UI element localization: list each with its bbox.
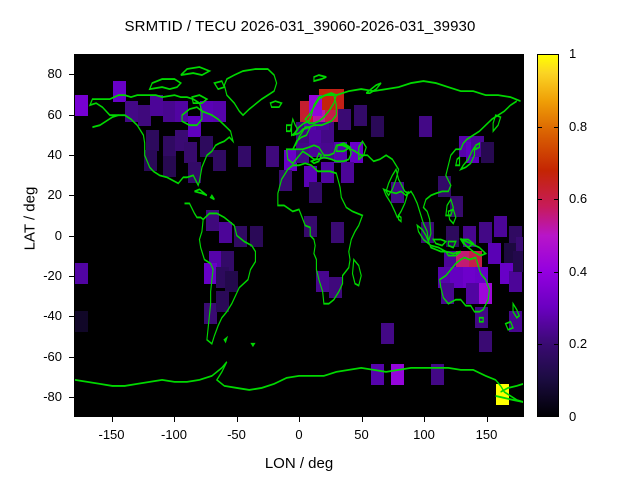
heatmap-cell	[421, 222, 434, 243]
map-plot-area[interactable]	[74, 54, 524, 417]
heatmap-cell	[175, 101, 188, 122]
x-tick-label: 150	[457, 427, 517, 442]
x-tick	[424, 417, 425, 422]
heatmap-cell	[479, 222, 492, 243]
heatmap-cell	[144, 150, 157, 171]
heatmap-cell	[316, 271, 329, 292]
colorbar-tick	[554, 416, 559, 417]
heatmap-cell	[488, 243, 501, 264]
heatmap-cell	[213, 150, 226, 171]
x-tick-label: -50	[207, 427, 267, 442]
heatmap-cell	[419, 116, 432, 137]
heatmap-cell	[438, 176, 451, 197]
y-tick	[69, 276, 74, 277]
heatmap-cell	[481, 142, 494, 163]
y-tick-label: 80	[12, 66, 62, 81]
y-tick	[69, 155, 74, 156]
colorbar[interactable]	[537, 54, 559, 417]
heatmap-cell	[266, 146, 279, 167]
heatmap-cell	[321, 162, 334, 183]
x-tick	[174, 417, 175, 422]
heatmap-cell	[146, 130, 159, 151]
heatmap-cell	[381, 323, 394, 344]
heatmap-cell	[334, 142, 347, 163]
heatmap-cell-layer	[75, 55, 523, 416]
heatmap-cell	[331, 89, 344, 110]
figure-canvas: SRMTID / TECU 2026-031_39060-2026-031_39…	[0, 0, 640, 480]
colorbar-tick	[554, 127, 559, 128]
heatmap-cell	[391, 182, 404, 203]
y-tick-label: -60	[12, 349, 62, 364]
x-tick-label: 100	[394, 427, 454, 442]
heatmap-cell	[513, 251, 525, 272]
heatmap-cell	[309, 182, 322, 203]
heatmap-cell	[250, 226, 263, 247]
y-tick	[69, 236, 74, 237]
y-tick-label: -80	[12, 389, 62, 404]
x-tick-label: 50	[332, 427, 392, 442]
heatmap-cell	[188, 162, 201, 183]
heatmap-cell	[234, 226, 247, 247]
heatmap-cell	[213, 101, 226, 122]
heatmap-cell	[200, 136, 213, 157]
x-axis-title: LON / deg	[74, 455, 524, 472]
heatmap-cell	[225, 271, 238, 292]
heatmap-cell	[496, 384, 509, 405]
x-tick	[299, 417, 300, 422]
colorbar-tick-label: 0.8	[569, 119, 587, 134]
colorbar-tick	[537, 127, 542, 128]
heatmap-cell	[188, 116, 201, 137]
heatmap-cell	[163, 101, 176, 122]
y-tick	[69, 357, 74, 358]
x-tick	[237, 417, 238, 422]
heatmap-cell	[296, 142, 309, 163]
heatmap-cell	[163, 156, 176, 177]
y-tick	[69, 397, 74, 398]
page-title: SRMTID / TECU 2026-031_39060-2026-031_39…	[0, 18, 600, 35]
heatmap-cell	[446, 226, 459, 247]
heatmap-cell	[350, 142, 363, 163]
x-tick-label: -100	[144, 427, 204, 442]
colorbar-tick-label: 0.4	[569, 264, 587, 279]
heatmap-cell	[216, 291, 229, 312]
heatmap-cell	[75, 95, 88, 116]
heatmap-cell	[466, 283, 479, 304]
heatmap-cell	[354, 105, 367, 126]
y-tick	[69, 316, 74, 317]
colorbar-tick	[554, 54, 559, 55]
heatmap-cell	[219, 222, 232, 243]
colorbar-tick	[554, 272, 559, 273]
heatmap-cell	[138, 105, 151, 126]
heatmap-cell	[479, 331, 492, 352]
heatmap-cell	[75, 311, 88, 332]
x-tick	[112, 417, 113, 422]
colorbar-tick	[537, 416, 542, 417]
heatmap-cell	[509, 271, 522, 292]
heatmap-cell	[206, 210, 219, 231]
heatmap-cell	[450, 196, 463, 217]
colorbar-tick	[537, 54, 542, 55]
colorbar-tick-label: 1	[569, 46, 576, 61]
y-axis-title: LAT / deg	[22, 139, 39, 299]
colorbar-tick	[537, 199, 542, 200]
colorbar-tick-label: 0	[569, 409, 576, 424]
heatmap-cell	[371, 364, 384, 385]
heatmap-cell	[391, 364, 404, 385]
heatmap-cell	[284, 150, 297, 171]
x-tick-label: -150	[82, 427, 142, 442]
heatmap-cell	[150, 95, 163, 116]
colorbar-tick	[554, 199, 559, 200]
y-tick-label: 60	[12, 107, 62, 122]
heatmap-cell	[309, 95, 322, 116]
colorbar-tick-label: 0.2	[569, 336, 587, 351]
heatmap-cell	[113, 81, 126, 102]
colorbar-tick	[537, 344, 542, 345]
colorbar-tick	[537, 272, 542, 273]
heatmap-cell	[184, 142, 197, 163]
heatmap-cell	[338, 109, 351, 130]
x-tick	[487, 417, 488, 422]
heatmap-cell	[371, 116, 384, 137]
heatmap-cell	[238, 146, 251, 167]
heatmap-cell	[475, 307, 488, 328]
heatmap-cell	[200, 101, 213, 122]
heatmap-cell	[204, 303, 217, 324]
heatmap-cell	[331, 222, 344, 243]
heatmap-cell	[341, 162, 354, 183]
y-tick	[69, 74, 74, 75]
heatmap-cell	[494, 216, 507, 237]
heatmap-cell	[431, 364, 444, 385]
y-tick	[69, 115, 74, 116]
heatmap-cell	[463, 226, 476, 247]
heatmap-cell	[75, 263, 88, 284]
heatmap-cell	[441, 283, 454, 304]
colorbar-tick-label: 0.6	[569, 191, 587, 206]
colorbar-tick	[554, 344, 559, 345]
y-tick-label: -40	[12, 308, 62, 323]
x-tick	[362, 417, 363, 422]
heatmap-cell	[125, 101, 138, 122]
heatmap-cell	[204, 263, 217, 284]
heatmap-cell	[163, 136, 176, 157]
heatmap-cell	[329, 277, 342, 298]
heatmap-cell	[279, 170, 292, 191]
heatmap-cell	[509, 311, 522, 332]
heatmap-cell	[304, 216, 317, 237]
y-tick	[69, 195, 74, 196]
x-tick-label: 0	[269, 427, 329, 442]
heatmap-cell	[479, 283, 492, 304]
